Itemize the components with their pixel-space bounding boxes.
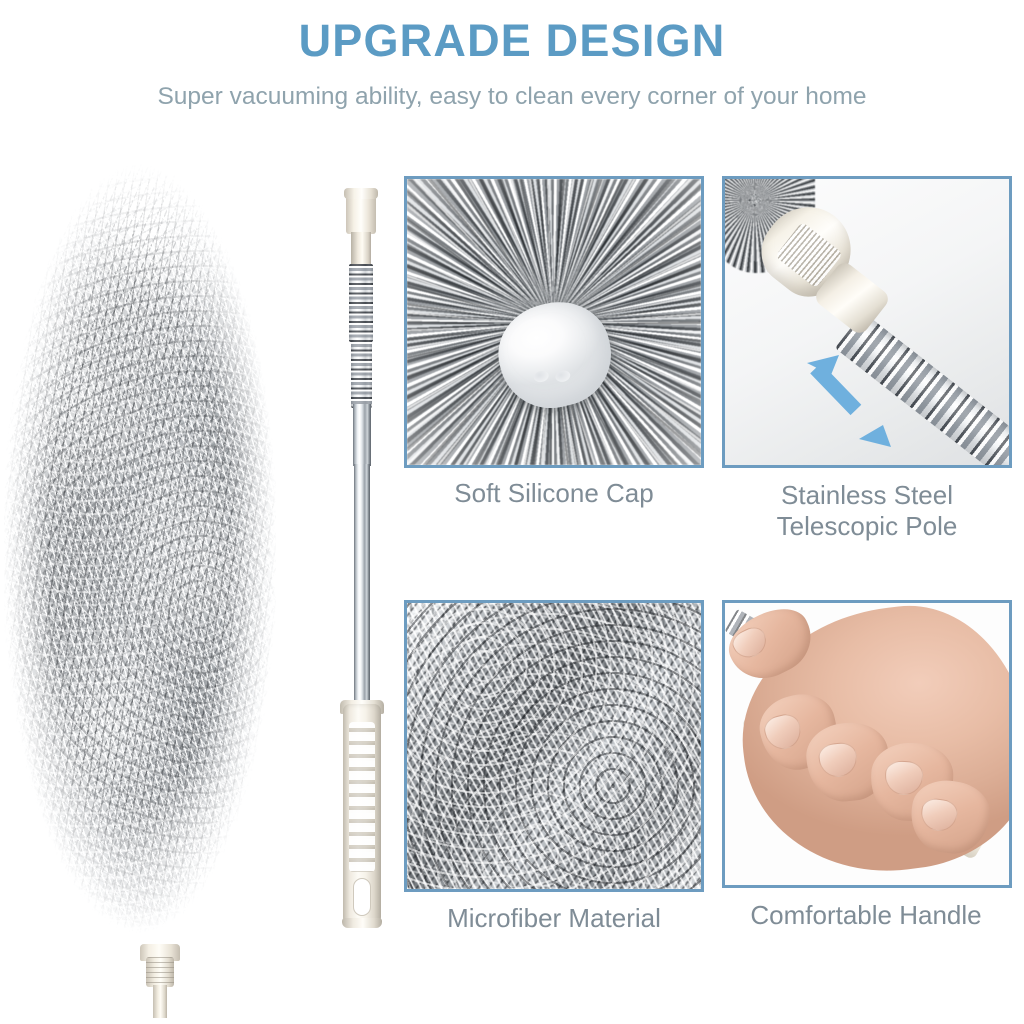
duster-product-image: [0, 140, 290, 1024]
caption-stainless-steel-telescopic-pole: Stainless Steel Telescopic Pole: [712, 480, 1022, 542]
pole-segment-1: [351, 232, 371, 266]
microfiber-duster-head: [4, 148, 276, 948]
plug-threaded-collar: [146, 957, 174, 987]
cap-dimple: [533, 369, 550, 383]
pole-cap-lip: [344, 188, 378, 199]
pole-segment-4: [353, 404, 371, 466]
cap-dimple: [554, 369, 571, 383]
fiber-layer-b: [4, 148, 276, 948]
pole-segment-3: [351, 340, 372, 408]
handle-grip-ridges: [349, 722, 375, 872]
panel-microfiber-material: [404, 600, 704, 892]
fiber-layer-a: [4, 148, 276, 948]
panel-stainless-steel-telescopic-pole: [722, 176, 1012, 468]
double-arrow-icon: [799, 349, 911, 453]
handle-hang-hole: [353, 878, 371, 916]
pole-shaft: [354, 464, 370, 712]
panel-soft-silicone-cap: [404, 176, 704, 468]
handle-foot: [342, 918, 382, 928]
product-infographic: UPGRADE DESIGN Super vacuuming ability, …: [0, 0, 1024, 1024]
caption-soft-silicone-cap: Soft Silicone Cap: [394, 478, 714, 509]
page-subtitle: Super vacuuming ability, easy to clean e…: [0, 82, 1024, 112]
pole-segment-2: [349, 264, 373, 342]
duster-connector-plug: [138, 908, 182, 1024]
caption-microfiber-material: Microfiber Material: [394, 903, 714, 934]
page-title: UPGRADE DESIGN: [0, 14, 1024, 68]
header: UPGRADE DESIGN Super vacuuming ability, …: [0, 0, 1024, 140]
bottom-margin: [0, 1018, 1024, 1024]
panel-comfortable-handle: [722, 600, 1012, 888]
microfiber-macro-highlights: [407, 603, 701, 889]
caption-comfortable-handle: Comfortable Handle: [706, 900, 1024, 931]
fiber-layer-c: [4, 148, 276, 948]
telescopic-pole-image: [330, 188, 390, 928]
duster-soft-edge: [0, 142, 286, 954]
